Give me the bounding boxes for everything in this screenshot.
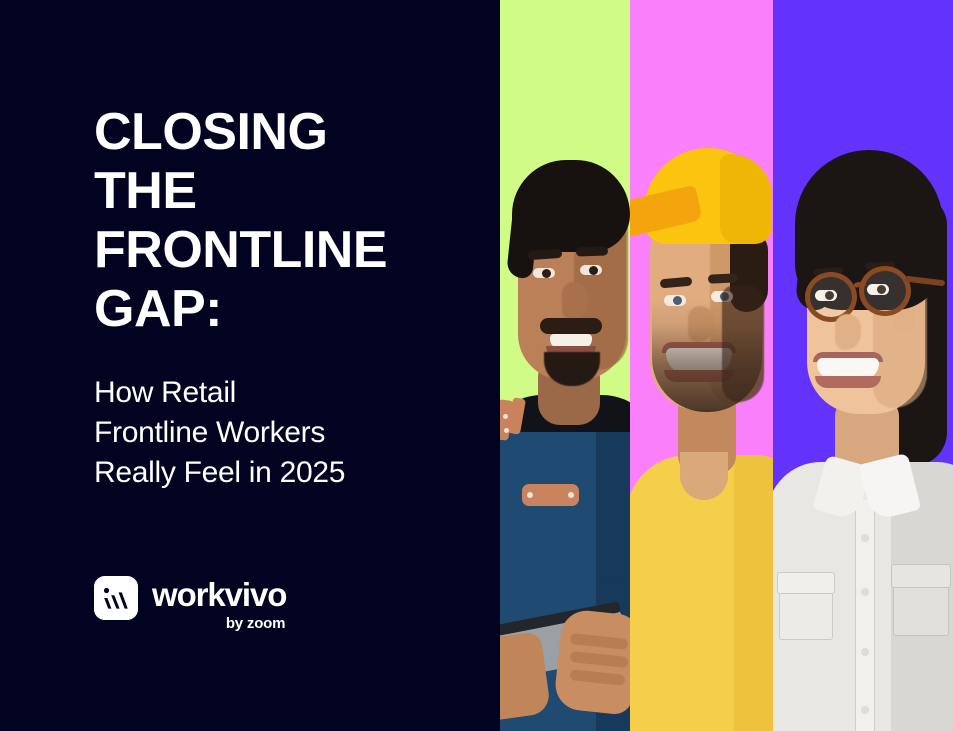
headline-line: GAP: xyxy=(94,280,494,339)
eyeglasses-lens-right xyxy=(859,266,911,316)
workvivo-byline: by zoom xyxy=(226,615,285,633)
cap-shading xyxy=(720,154,772,244)
shirt-button xyxy=(861,534,869,542)
pocket-flap-left xyxy=(777,572,835,594)
subheadline-line: Really Feel in 2025 xyxy=(94,453,484,493)
headline-line: FRONTLINE xyxy=(94,221,494,280)
report-cover: CLOSING THE FRONTLINE GAP: How Retail Fr… xyxy=(0,0,953,731)
v-neck-opening xyxy=(680,452,728,500)
figure-worker-with-tablet xyxy=(500,0,630,731)
figure-worker-with-cap xyxy=(630,0,773,731)
subheadline-line: How Retail xyxy=(94,373,484,413)
cover-text-column: CLOSING THE FRONTLINE GAP: How Retail Fr… xyxy=(0,0,500,731)
eyebrow-right xyxy=(576,246,608,256)
figure-worker-with-glasses xyxy=(773,0,953,731)
pocket-flap-right xyxy=(891,564,951,588)
lower-lip xyxy=(815,376,881,388)
headline-line: THE xyxy=(94,162,494,221)
shirt-button xyxy=(861,706,869,714)
beard-side xyxy=(722,286,764,402)
nose xyxy=(562,282,588,320)
apron-leather-buckle xyxy=(522,484,579,506)
strap-rivet-b xyxy=(504,428,509,433)
shirt-button xyxy=(861,588,869,596)
photo-panel-pink xyxy=(630,0,773,731)
eyebrow-right xyxy=(708,273,738,284)
workvivo-wordmark-group: workvivo by zoom xyxy=(152,576,286,633)
torso-shading xyxy=(734,455,773,731)
eye-right xyxy=(580,265,602,275)
workvivo-wordmark: workvivo xyxy=(152,578,286,612)
shirt-button xyxy=(861,648,869,656)
strap-rivet-a xyxy=(503,414,508,419)
photo-panel-green xyxy=(500,0,630,731)
subheadline-line: Frontline Workers xyxy=(94,413,484,453)
workvivo-mark-icon xyxy=(94,576,138,620)
headline-line: CLOSING xyxy=(94,103,494,162)
workvivo-logo-lockup[interactable]: workvivo by zoom xyxy=(94,576,286,633)
cover-subheadline: How Retail Frontline Workers Really Feel… xyxy=(94,373,484,493)
mustache xyxy=(540,318,602,334)
eye-left xyxy=(533,268,555,278)
photo-panel-purple xyxy=(773,0,953,731)
photo-panel-group xyxy=(500,0,953,731)
cover-headline: CLOSING THE FRONTLINE GAP: xyxy=(94,103,494,339)
apron-pocket xyxy=(596,500,630,578)
